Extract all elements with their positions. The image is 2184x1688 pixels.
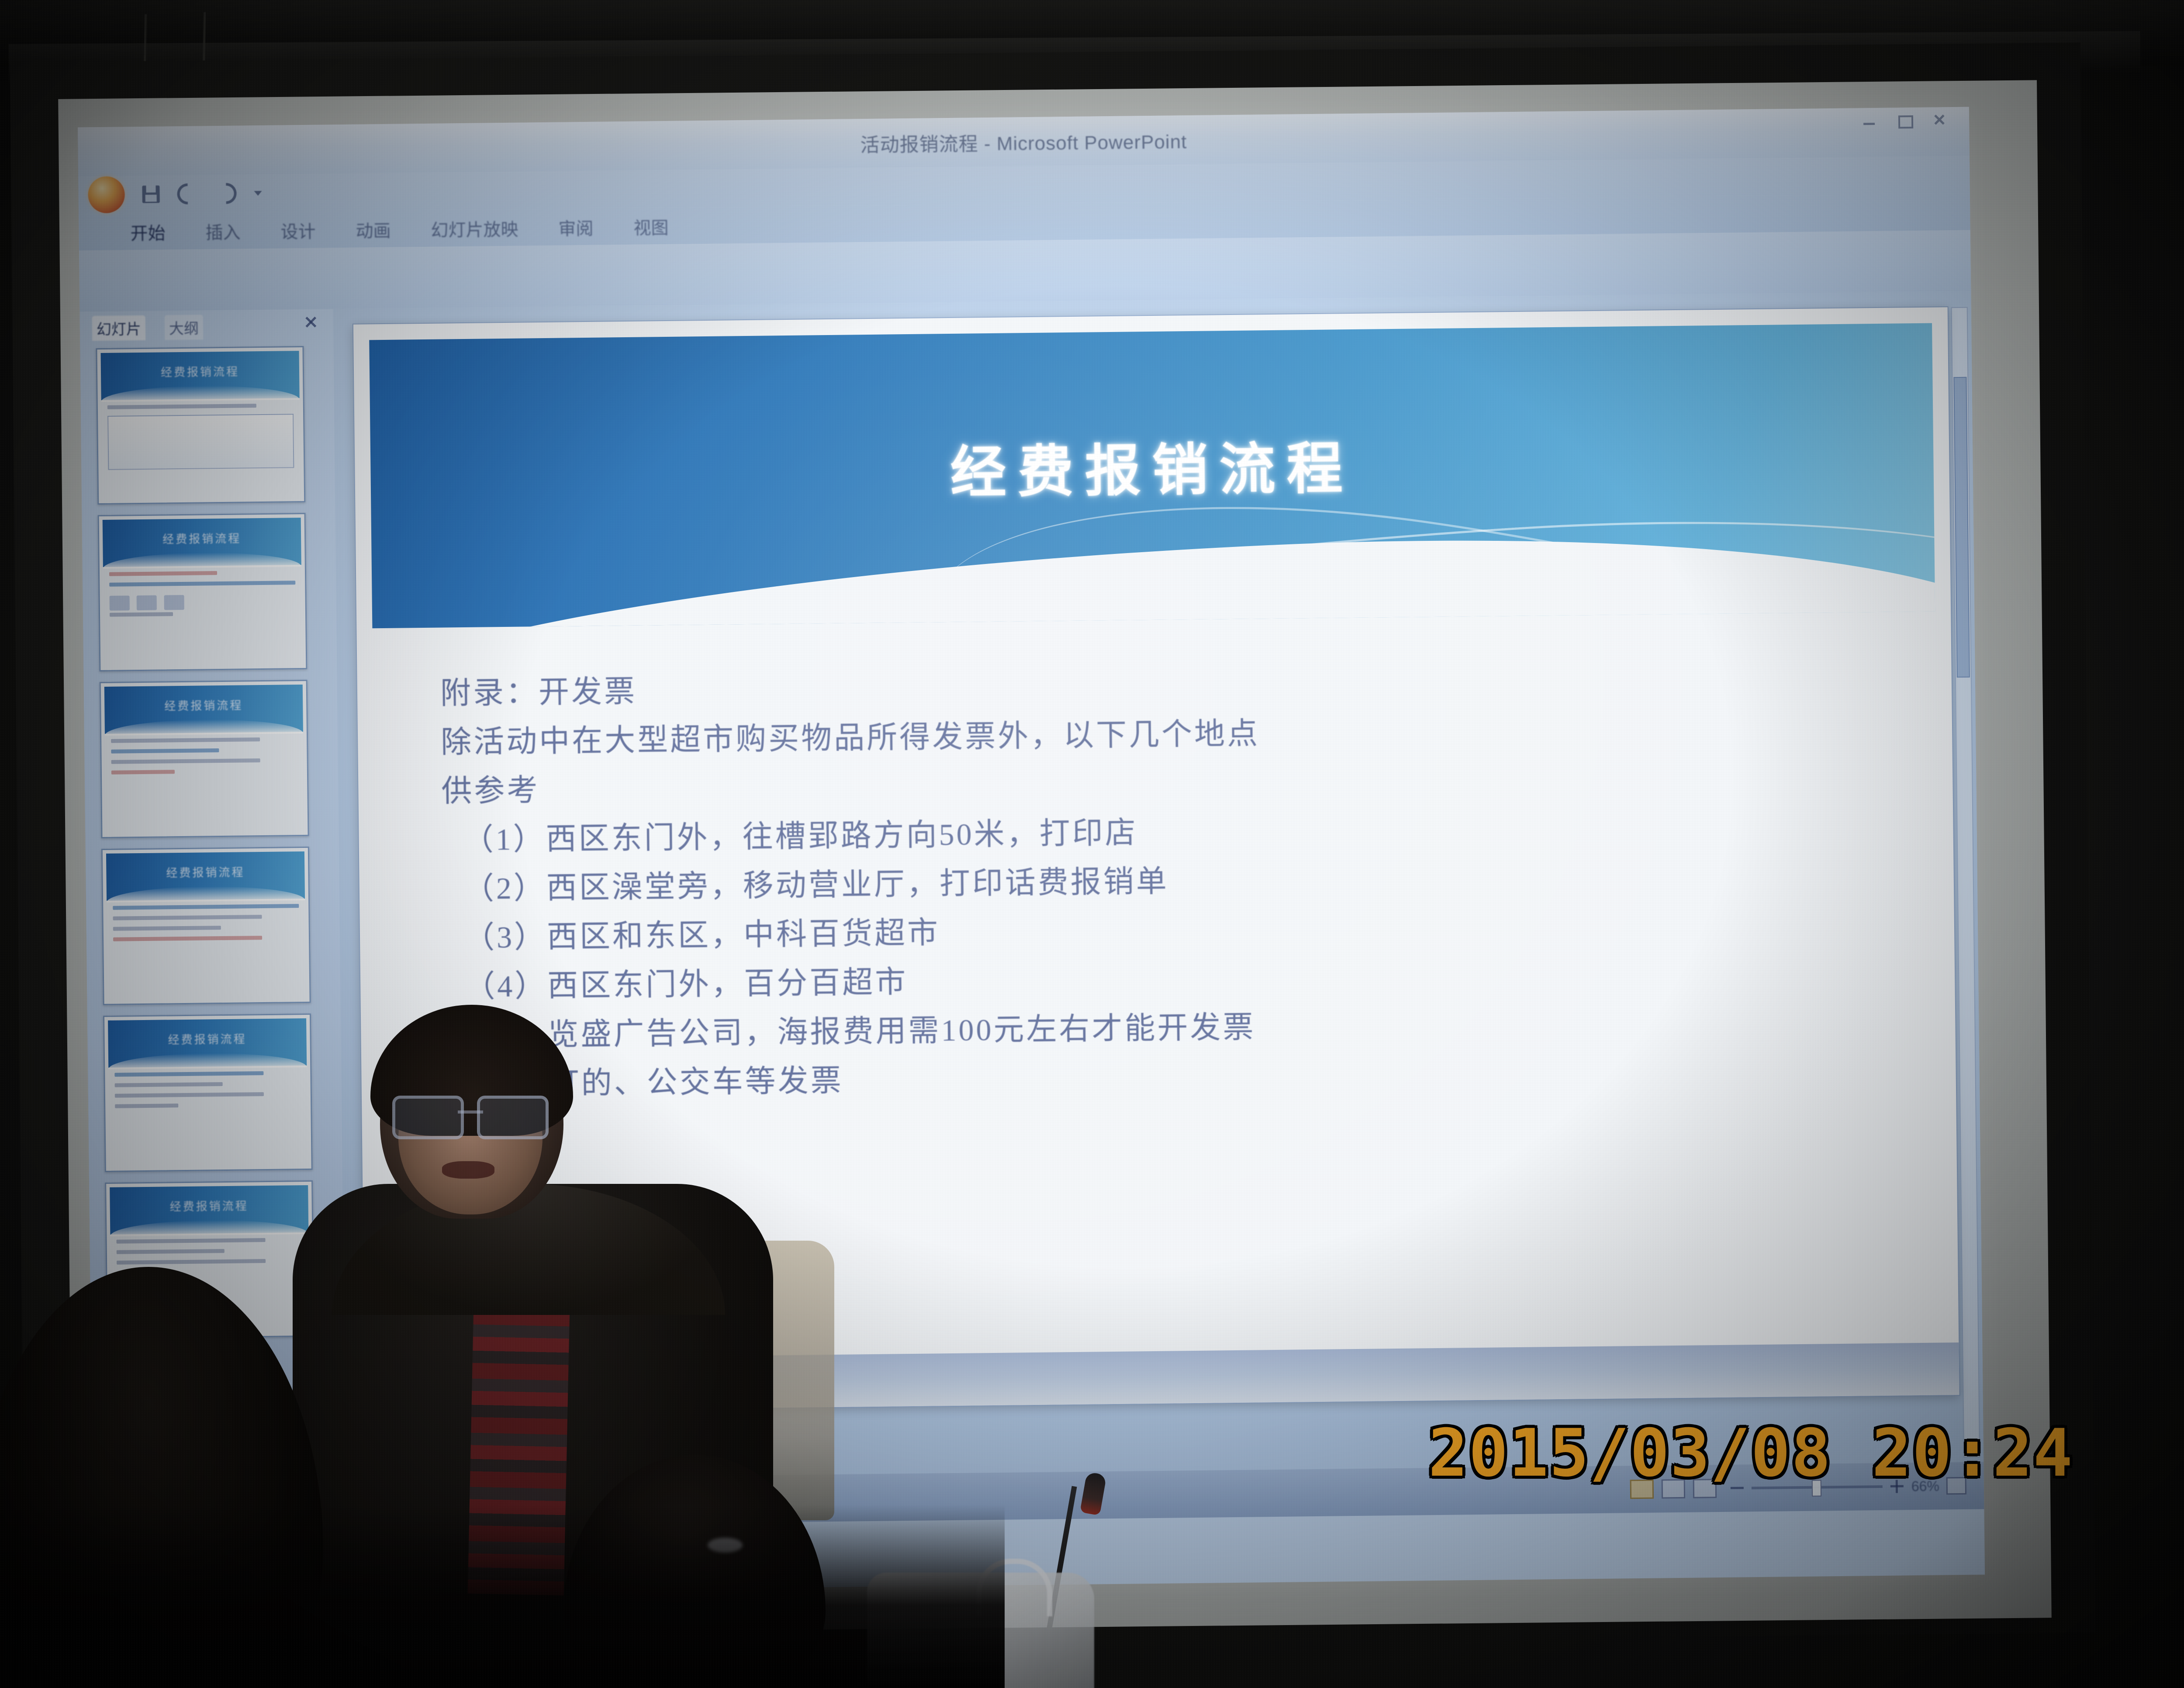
undo-icon[interactable] [173, 179, 203, 209]
thumbnail-title: 经费报销流程 [108, 1030, 306, 1048]
slide-title: 经费报销流程 [370, 417, 1934, 515]
thumbnail-line [115, 1082, 223, 1087]
tab-slideshow[interactable]: 幻灯片放映 [431, 215, 518, 247]
thumbnail-line [115, 1103, 178, 1108]
slide-thumbnail-3[interactable]: 经费报销流程 [100, 680, 309, 838]
thumbnail-title: 经费报销流程 [104, 696, 303, 714]
thumbnail-line [109, 571, 217, 576]
thumbnail-banner: 经费报销流程 [110, 1185, 308, 1235]
thumbnail-line [113, 936, 262, 941]
thumbnail-body [111, 737, 298, 832]
save-icon[interactable] [142, 186, 159, 203]
camera-timestamp: 2015/03/08 20:24 [1428, 1415, 2073, 1491]
thumbnail-chip [137, 595, 157, 610]
thumbnail-line [107, 404, 256, 409]
slide-thumbnail-5[interactable]: 经费报销流程 [103, 1013, 313, 1172]
thumbnail-body [114, 1071, 301, 1166]
thumbnail-line [111, 748, 219, 754]
thumbnail-title: 经费报销流程 [106, 863, 304, 881]
tab-insert[interactable]: 插入 [205, 218, 241, 249]
thumbnail-banner: 经费报销流程 [104, 685, 303, 734]
work-area: 幻灯片 大纲 经费报销流程 [80, 291, 1984, 1483]
thumbnail-chip [110, 595, 130, 610]
redo-icon[interactable] [211, 179, 241, 208]
thumbnail-banner: 经费报销流程 [106, 851, 305, 901]
close-panel-icon[interactable] [304, 315, 318, 329]
thumbnail-line [113, 926, 221, 931]
foreground-shadow [0, 1505, 1005, 1688]
thumbnail-banner: 经费报销流程 [103, 518, 301, 567]
thumbnail-figure [107, 414, 294, 470]
thumbnail-line [114, 1071, 263, 1077]
thumbnail-title: 经费报销流程 [103, 529, 301, 547]
scrollbar-thumb[interactable] [1953, 377, 1970, 678]
thumbnail-line [110, 612, 173, 617]
thumbnail-body [109, 570, 296, 665]
thumbnail-line [111, 758, 260, 764]
slide-thumbnail-4[interactable]: 经费报销流程 [101, 847, 311, 1005]
tab-view[interactable]: 视图 [633, 214, 669, 245]
tab-home[interactable]: 开始 [130, 219, 166, 250]
thumbnail-title: 经费报销流程 [101, 362, 299, 380]
thumbnail-chip [164, 595, 184, 610]
thumbnail-line [117, 1249, 225, 1254]
thumbnail-line [111, 737, 260, 743]
thumbnail-line [113, 915, 262, 920]
thumbnail-body [107, 403, 294, 498]
slide-footer-band [365, 1342, 1959, 1412]
tab-animations[interactable]: 动画 [356, 217, 391, 248]
thumbnail-banner: 经费报销流程 [101, 351, 300, 400]
thumbnail-body [113, 904, 300, 999]
window-controls [1863, 113, 1953, 127]
thumbnail-title: 经费报销流程 [110, 1197, 308, 1215]
thumbnail-list: 经费报销流程 经费报销流程 [84, 342, 340, 1339]
slide-body-text: 附录：开发票 除活动中在大型超市购买物品所得发票外，以下几个地点 供参考 （1）… [440, 654, 1921, 1110]
tab-design[interactable]: 设计 [280, 218, 316, 249]
tab-slides[interactable]: 幻灯片 [92, 315, 146, 340]
thumbnail-line [115, 1092, 264, 1098]
thumbnail-line [113, 904, 299, 910]
slide-canvas[interactable]: 经费报销流程 附录：开发票 除活动中在大型超市购买物品所得发票外，以下几个地点 … [353, 307, 1959, 1412]
thumbnail-line [111, 770, 175, 775]
slide-thumbnail-2[interactable]: 经费报销流程 [98, 513, 308, 671]
slides-panel-tabs: 幻灯片 大纲 [84, 309, 329, 345]
office-orb-button[interactable] [88, 176, 125, 213]
close-icon[interactable] [1933, 113, 1953, 126]
thumbnail-line [109, 581, 295, 587]
restore-button[interactable] [1898, 114, 1918, 127]
slide-thumbnail-1[interactable]: 经费报销流程 [96, 346, 305, 505]
tab-review[interactable]: 审阅 [558, 214, 594, 246]
tab-outline[interactable]: 大纲 [165, 315, 204, 340]
thumbnail-line [117, 1259, 266, 1265]
slide-edit-region: 经费报销流程 附录：开发票 除活动中在大型超市购买物品所得发票外，以下几个地点 … [333, 291, 1984, 1480]
minimize-button[interactable] [1863, 114, 1883, 127]
window-title: 活动报销流程 - Microsoft PowerPoint [860, 126, 1187, 157]
chevron-down-icon[interactable] [254, 190, 262, 195]
photograph-scene: 活动报销流程 - Microsoft PowerPoint 开始 插入 设计 动… [0, 0, 2184, 1688]
thumbnail-banner: 经费报销流程 [108, 1018, 307, 1068]
powerpoint-window: 活动报销流程 - Microsoft PowerPoint 开始 插入 设计 动… [78, 107, 1985, 1595]
slide-header-banner: 经费报销流程 [369, 323, 1935, 629]
thumbnail-line [117, 1238, 266, 1244]
